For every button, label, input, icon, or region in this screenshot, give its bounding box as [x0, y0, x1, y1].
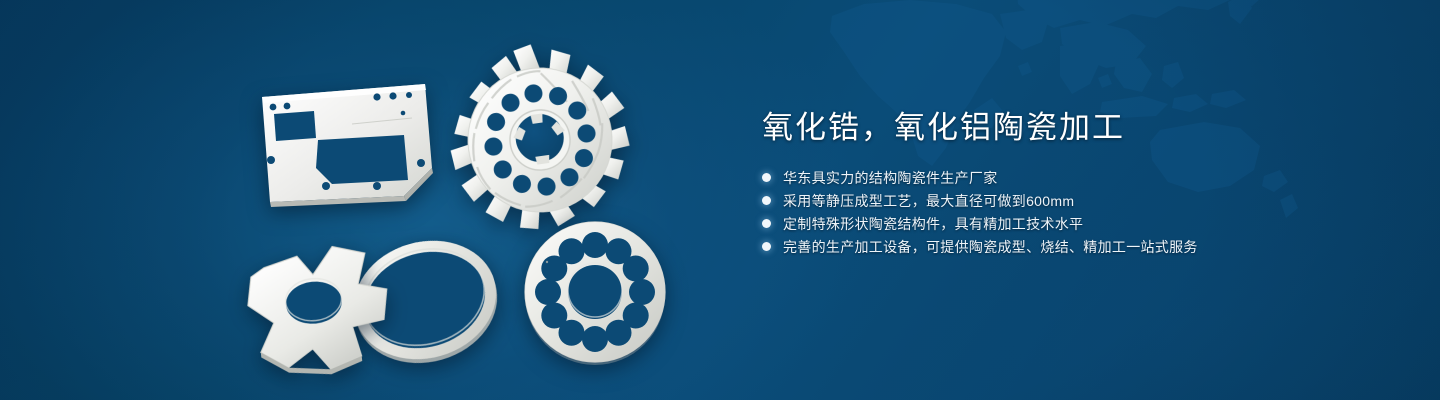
list-item-label: 华东具实力的结构陶瓷件生产厂家: [783, 168, 998, 188]
ceramic-cross-plate: [243, 241, 396, 382]
page-title: 氧化锆，氧化铝陶瓷加工: [762, 106, 1382, 150]
banner-copy: 氧化锆，氧化铝陶瓷加工 华东具实力的结构陶瓷件生产厂家 采用等静压成型工艺，最大…: [762, 106, 1382, 258]
list-item-label: 采用等静压成型工艺，最大直径可做到600mm: [783, 191, 1074, 211]
list-item-label: 完善的生产加工设备，可提供陶瓷成型、烧结、精加工一站式服务: [783, 237, 1198, 257]
list-item: 定制特殊形状陶瓷结构件，具有精加工技术水平: [762, 212, 1382, 235]
ceramic-plate-rectangular: [262, 84, 433, 207]
bullet-dot-icon: [762, 242, 771, 251]
bullet-dot-icon: [762, 173, 771, 182]
list-item-label: 定制特殊形状陶瓷结构件，具有精加工技术水平: [783, 214, 1083, 234]
list-item: 华东具实力的结构陶瓷件生产厂家: [762, 166, 1382, 189]
product-photo-collage: [0, 0, 760, 400]
bullet-dot-icon: [762, 219, 771, 228]
list-item: 完善的生产加工设备，可提供陶瓷成型、烧结、精加工一站式服务: [762, 235, 1382, 258]
hero-banner: 氧化锆，氧化铝陶瓷加工 华东具实力的结构陶瓷件生产厂家 采用等静压成型工艺，最大…: [0, 0, 1440, 400]
ceramic-perforated-ring: [525, 222, 665, 365]
bullet-dot-icon: [762, 196, 771, 205]
ceramic-impeller-disc: [438, 33, 640, 240]
list-item: 采用等静压成型工艺，最大直径可做到600mm: [762, 189, 1382, 212]
feature-list: 华东具实力的结构陶瓷件生产厂家 采用等静压成型工艺，最大直径可做到600mm 定…: [762, 166, 1382, 258]
